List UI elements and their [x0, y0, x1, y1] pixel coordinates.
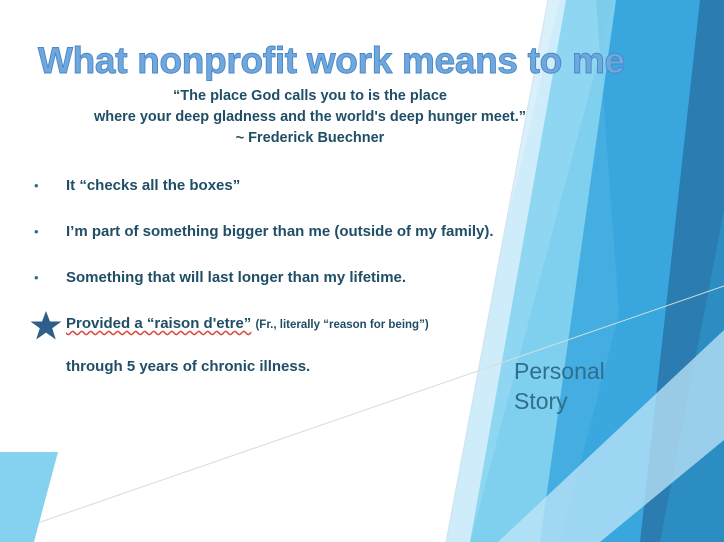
- quote-line-2: where your deep gladness and the world's…: [0, 107, 620, 128]
- bullet-dot-icon: •: [30, 222, 66, 242]
- decoration-band-mid2: [660, 210, 724, 542]
- list-item: • I’m part of something bigger than me (…: [30, 222, 590, 268]
- star-icon: [30, 310, 66, 347]
- quote-attribution: ~ Frederick Buechner: [0, 128, 620, 149]
- bullet-list: • It “checks all the boxes” • I’m part o…: [30, 176, 590, 377]
- personal-story-line-1: Personal: [514, 356, 644, 386]
- list-item-label: I’m part of something bigger than me (ou…: [66, 222, 590, 242]
- list-item-starred: Provided a “raison d'etre” (Fr., literal…: [30, 314, 590, 377]
- quote-line-1: “The place God calls you to is the place: [0, 86, 620, 107]
- list-item-label: Something that will last longer than my …: [66, 268, 590, 288]
- list-item: • Something that will last longer than m…: [30, 268, 590, 314]
- page-title: What nonprofit work means to me: [38, 40, 638, 82]
- list-item: • It “checks all the boxes”: [30, 176, 590, 222]
- list-item-label: Provided a “raison d'etre” (Fr., literal…: [66, 314, 590, 377]
- decoration-corner-wedge: [0, 452, 58, 542]
- starred-bullet-note: (Fr., literally “reason for being”): [255, 319, 428, 331]
- slide-canvas: What nonprofit work means to me “The pla…: [0, 0, 724, 542]
- bullet-dot-icon: •: [30, 176, 66, 196]
- quote-block: “The place God calls you to is the place…: [0, 86, 620, 149]
- personal-story-label: Personal Story: [514, 356, 644, 416]
- personal-story-line-2: Story: [514, 386, 644, 416]
- starred-bullet-continuation: through 5 years of chronic illness.: [66, 357, 590, 377]
- bullet-dot-icon: •: [30, 268, 66, 288]
- list-item-label: It “checks all the boxes”: [66, 176, 590, 196]
- starred-bullet-main: Provided a “raison d'etre”: [66, 315, 251, 332]
